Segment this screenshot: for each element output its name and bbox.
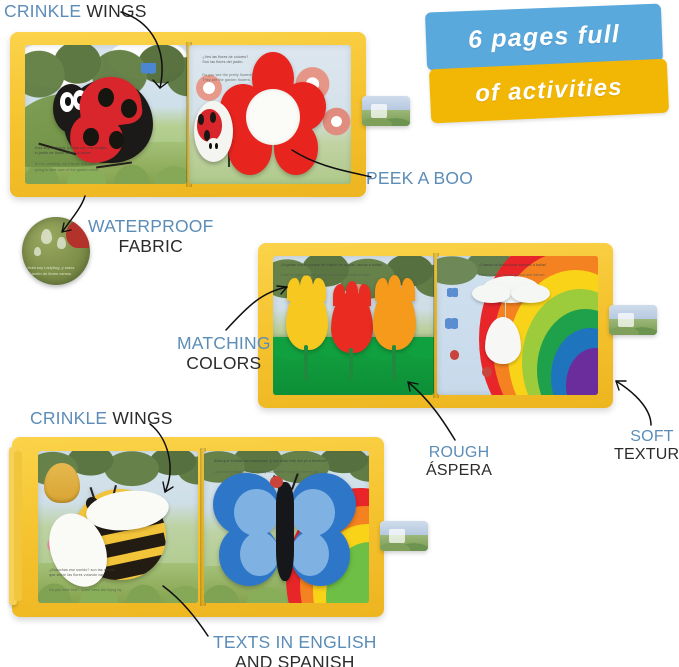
callout-waterproof-fabric: WATERPROOF FABRIC — [88, 217, 213, 256]
callout-crinkle-wings-top-dk: WINGS — [86, 1, 146, 21]
callout-waterproof-hl: WATERPROOF — [88, 217, 213, 237]
butterfly-right-text-en: Look how pretty! See the pretty butterfl… — [214, 470, 319, 475]
callout-crinkle-wings-top-hl: CRINKLE — [4, 1, 81, 21]
page-edge-tab[interactable] — [362, 96, 410, 126]
callout-peek-a-boo: PEEK A BOO — [366, 169, 473, 189]
ladybug-right-text-es: ¿Ves las flores de colores? Son las flor… — [202, 55, 248, 65]
tulip-stem — [304, 345, 308, 381]
ladybug-book-spread: Hola soy Ladybug, y estos son mis amigos… — [10, 32, 366, 197]
waterproof-inset-text: Hola soy Ladybug, y estos el jardín de f… — [27, 265, 74, 277]
badge-line-1: 6 pages full — [468, 20, 621, 55]
tulip-red-applique — [331, 292, 373, 353]
rainbow-right-text-en: When it rains, we all go out and dance! — [479, 273, 545, 278]
butterfly-applique[interactable] — [210, 473, 359, 591]
bee-butterfly-book-spread: ¿Escuchas ese sonido? son las abejas que… — [12, 437, 384, 617]
page-edge-tab[interactable] — [609, 305, 657, 335]
ladybug-left-text-en: Hi I'm Ladybug, my friends and I am goin… — [35, 162, 99, 172]
tulip-stem — [392, 345, 396, 381]
badge-line-2: of activities — [475, 74, 624, 109]
callout-matching-hl: MATCHING — [177, 334, 271, 354]
tulip-yellow-applique — [286, 287, 328, 351]
bee-left-text-es: ¿Escuchas ese sonido? son las abejas que… — [49, 568, 115, 578]
callout-rough-hl: ROUGH — [426, 444, 492, 462]
callout-waterproof-dk: FABRIC — [88, 237, 213, 257]
tulips-rainbow-book-spread: ¡Sujétate fuerte porque de tulipán en tu… — [258, 243, 613, 408]
callout-matching-colors: MATCHING COLORS — [177, 334, 271, 373]
butterfly-decor — [141, 63, 156, 74]
callout-rough-aspera: ROUGH ÁSPERA — [426, 444, 492, 480]
tulips-left-page: ¡Sujétate fuerte porque de tulipán en tu… — [273, 256, 434, 395]
callout-soft-dk: TEXTURE — [614, 446, 679, 464]
water-droplet — [57, 237, 65, 249]
bee-left-page: ¿Escuchas ese sonido? son las abejas que… — [38, 451, 198, 602]
rainbow-right-text-es: ¡Cuando la lluvia todos salimos a bailar… — [479, 263, 547, 268]
ladybug-fragment — [66, 221, 89, 248]
peek-a-boo-flap[interactable] — [194, 101, 233, 162]
leader-soft — [616, 381, 651, 425]
callout-texts-bilingual: TEXTS IN ENGLISH AND SPANISH — [213, 633, 377, 667]
callout-crinkle-wings-top: CRINKLE WINGS — [4, 2, 147, 22]
cloud-applique — [511, 284, 550, 303]
callout-peek-a-boo-label: PEEK A BOO — [366, 169, 473, 189]
rainbow-right-page: ¡Cuando la lluvia todos salimos a bailar… — [437, 256, 598, 395]
ladybug-decor — [450, 350, 460, 360]
butterfly-right-page: ¡Mira qué bonitas las mariposas, y con e… — [204, 451, 370, 602]
ladybug-decor — [482, 367, 492, 377]
ladybug-decor — [270, 476, 283, 488]
bee-left-text-en: Do you hear that? Some bees are flying b… — [49, 588, 122, 593]
callout-texts-hl: TEXTS IN ENGLISH — [213, 633, 377, 653]
ladybug-right-text-en: Do you see the pretty flowers? They are … — [202, 73, 254, 83]
page-stack-edge — [14, 451, 22, 601]
callout-texts-dk: AND SPANISH — [213, 653, 377, 667]
tulips-left-text-en: Hold on tight, we are going to jump from… — [281, 273, 371, 278]
callout-crinkle-wings-bottom: CRINKLE WINGS — [30, 409, 173, 429]
callout-matching-dk: COLORS — [177, 354, 271, 374]
water-droplet — [34, 247, 41, 257]
callout-soft-hl: SOFT — [614, 428, 679, 446]
tulip-orange-applique — [373, 287, 417, 351]
tulips-left-text-es: ¡Sujétate fuerte porque de tulipán en tu… — [281, 263, 382, 268]
pages-badge: 6 pages full of activities — [418, 6, 668, 124]
butterfly-decor — [445, 317, 458, 329]
ladybug-left-text-es: Hola soy Ladybug, y estos son mis amigos… — [35, 146, 108, 156]
callout-crinkle-wings-bottom-hl: CRINKLE — [30, 408, 107, 428]
callout-soft-texture: SOFT TEXTURE — [614, 428, 679, 464]
water-droplet — [41, 229, 52, 244]
tulip-stem — [349, 348, 353, 381]
leader-arrow-soft — [616, 381, 626, 390]
page-edge-tab[interactable] — [380, 521, 428, 551]
callout-rough-dk: ÁSPERA — [426, 462, 492, 480]
badge-ribbon-yellow: of activities — [429, 59, 669, 124]
butterfly-right-text-es: ¡Mira qué bonitas las mariposas, y con e… — [214, 459, 327, 464]
butterfly-decor — [447, 287, 458, 298]
callout-crinkle-wings-bottom-dk: WINGS — [112, 408, 172, 428]
waterproof-zoom-circle: Hola soy Ladybug, y estos el jardín de f… — [22, 217, 90, 285]
ladybug-left-page: Hola soy Ladybug, y estos son mis amigos… — [25, 45, 187, 184]
ladybug-right-page: ¿Ves las flores de colores? Son las flor… — [189, 45, 351, 184]
